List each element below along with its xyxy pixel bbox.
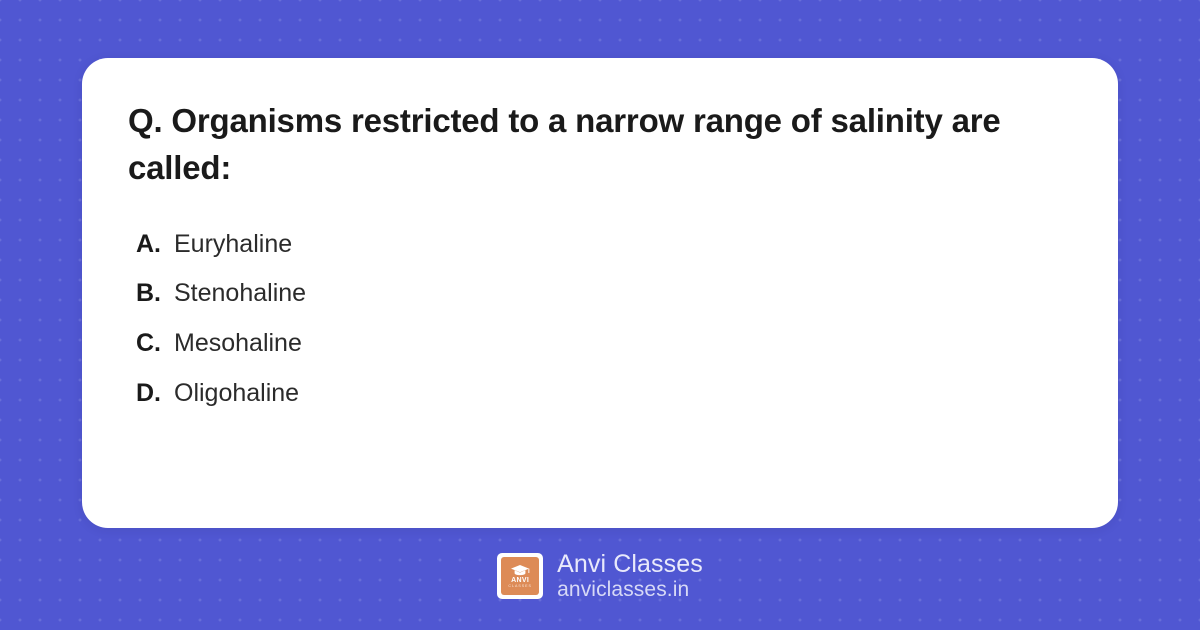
option-d[interactable]: D. Oligohaline bbox=[136, 377, 1072, 411]
graduation-cap-icon bbox=[510, 564, 530, 576]
option-b[interactable]: B. Stenohaline bbox=[136, 277, 1072, 311]
option-c-letter: C. bbox=[136, 327, 174, 361]
footer-branding: ANVI CLASSES Anvi Classes anviclasses.in bbox=[0, 545, 1200, 607]
brand-logo: ANVI CLASSES bbox=[497, 553, 543, 599]
question-text: Q. Organisms restricted to a narrow rang… bbox=[128, 98, 1072, 192]
brand-logo-subtitle: CLASSES bbox=[508, 585, 532, 589]
option-a-letter: A. bbox=[136, 228, 174, 262]
option-d-letter: D. bbox=[136, 377, 174, 411]
brand-logo-tile: ANVI CLASSES bbox=[501, 557, 539, 595]
brand-text-block: Anvi Classes anviclasses.in bbox=[557, 550, 703, 602]
option-b-letter: B. bbox=[136, 277, 174, 311]
option-b-label: Stenohaline bbox=[174, 277, 306, 311]
brand-url[interactable]: anviclasses.in bbox=[557, 578, 703, 602]
option-a-label: Euryhaline bbox=[174, 228, 292, 262]
option-c-label: Mesohaline bbox=[174, 327, 302, 361]
option-d-label: Oligohaline bbox=[174, 377, 299, 411]
brand-logo-name: ANVI bbox=[511, 577, 529, 584]
option-c[interactable]: C. Mesohaline bbox=[136, 327, 1072, 361]
option-a[interactable]: A. Euryhaline bbox=[136, 228, 1072, 262]
options-list: A. Euryhaline B. Stenohaline C. Mesohali… bbox=[128, 228, 1072, 411]
question-card: Q. Organisms restricted to a narrow rang… bbox=[82, 58, 1118, 528]
brand-title: Anvi Classes bbox=[557, 550, 703, 579]
